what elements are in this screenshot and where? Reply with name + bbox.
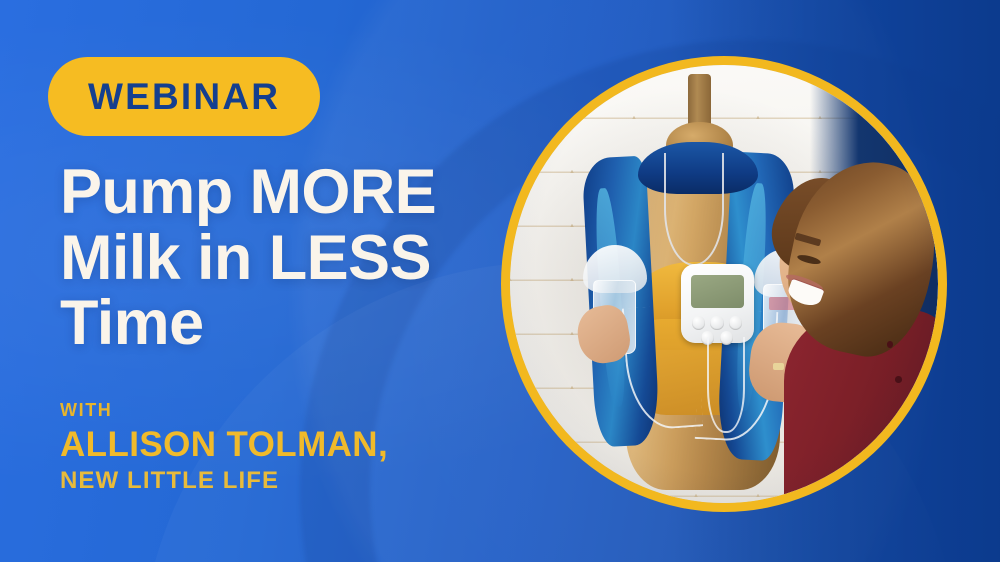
top-button-1 [887, 341, 893, 348]
pump-lanyard-cord [664, 153, 724, 267]
presenter-photo-circle [501, 56, 947, 512]
headline-line-3: Time [60, 291, 520, 357]
photo-ring-border [501, 56, 947, 512]
credit-with-label: WITH [60, 400, 520, 422]
copy-block: WEBINAR Pump MORE Milk in LESS Time WITH… [48, 0, 518, 562]
presenter-organization: NEW LITTLE LIFE [60, 467, 520, 496]
presenter-name: ALLISON TOLMAN, [60, 425, 520, 466]
pump-lcd-screen [691, 275, 744, 307]
presenter-credit: WITH ALLISON TOLMAN, NEW LITTLE LIFE [60, 400, 520, 496]
top-button-3 [899, 411, 905, 418]
top-button-2 [895, 376, 901, 383]
photo-content [510, 65, 938, 503]
page-title: Pump MORE Milk in LESS Time [60, 160, 520, 357]
webinar-badge-label: WEBINAR [88, 78, 280, 115]
wedding-ring [773, 363, 784, 370]
pump-tubing-center-loop [707, 337, 746, 433]
headline-line-1: Pump MORE [60, 160, 520, 226]
webinar-badge: WEBINAR [48, 57, 320, 136]
headline-line-2: Milk in LESS [60, 226, 520, 292]
webinar-promo-graphic: WEBINAR Pump MORE Milk in LESS Time WITH… [0, 0, 1000, 562]
